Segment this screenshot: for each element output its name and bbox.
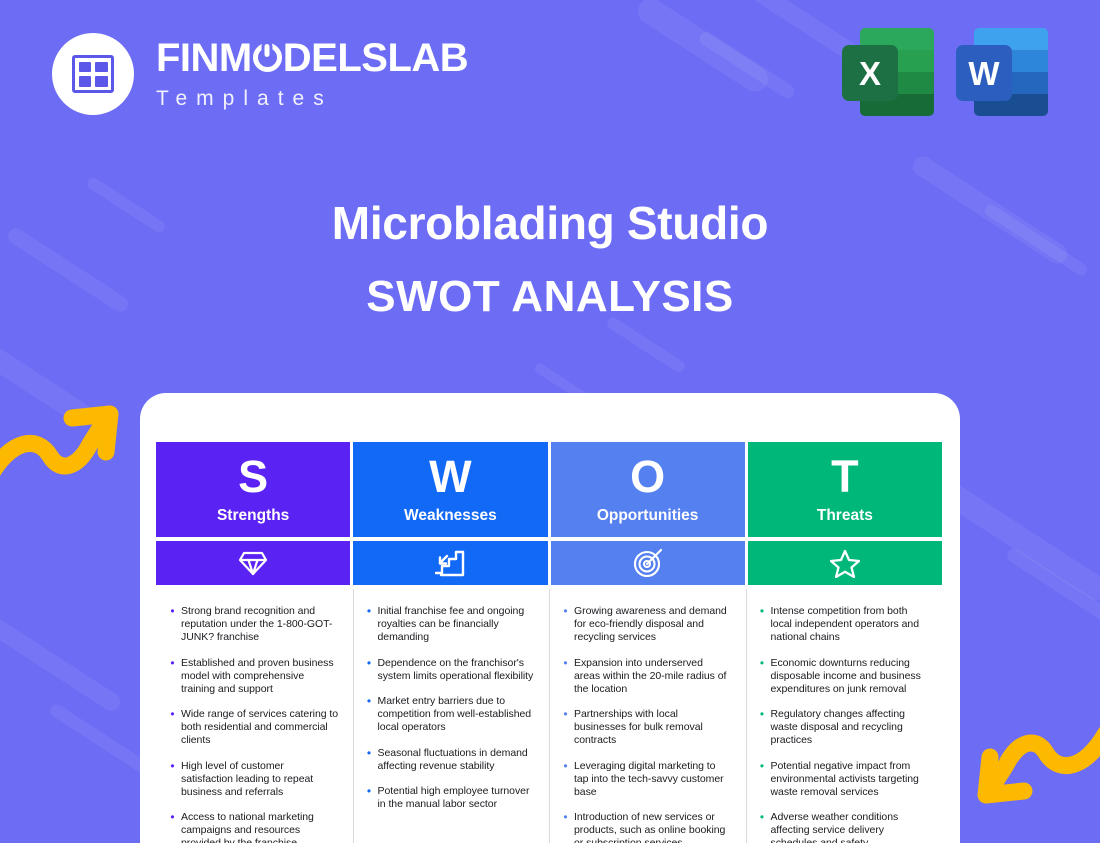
- squiggle-arrow-down-left-icon: [962, 719, 1100, 811]
- bullet-icon: •: [168, 605, 177, 644]
- swot-card: S Strengths W Weaknesses O Opportunities…: [140, 393, 960, 843]
- list-item: •Strong brand recognition and reputation…: [168, 605, 339, 644]
- list-item: •Access to national marketing campaigns …: [168, 811, 339, 843]
- descending-stairs-icon: [435, 550, 465, 577]
- list-item: •Partnerships with local businesses for …: [561, 708, 732, 747]
- swot-column-threats: •Intense competition from both local ind…: [746, 605, 943, 843]
- swot-header-strengths[interactable]: S Strengths: [156, 442, 350, 537]
- brand-tagline: Templates: [156, 87, 468, 111]
- swot-icon-row: [156, 541, 942, 585]
- list-item: •Introduction of new services or product…: [561, 811, 732, 843]
- file-format-badges: X W: [842, 28, 1048, 120]
- bullet-icon: •: [758, 811, 767, 843]
- target-icon: [633, 548, 663, 578]
- grid-logo-icon: [52, 33, 134, 115]
- list-item: •High level of customer satisfaction lea…: [168, 760, 339, 799]
- swot-label-weaknesses: Weaknesses: [404, 507, 497, 525]
- bullet-icon: •: [758, 708, 767, 747]
- swot-letter-t: T: [831, 454, 859, 499]
- swot-label-opportunities: Opportunities: [597, 507, 699, 525]
- brand-logo: FINM DELSLAB Templates: [52, 33, 468, 115]
- swot-column-strengths: •Strong brand recognition and reputation…: [156, 605, 353, 843]
- list-item: •Intense competition from both local ind…: [758, 605, 929, 644]
- brand-name-part1: FINM: [156, 38, 252, 78]
- swot-letter-w: W: [429, 454, 471, 499]
- swot-header-row: S Strengths W Weaknesses O Opportunities…: [156, 442, 942, 537]
- swot-letter-o: O: [630, 454, 665, 499]
- swot-header-opportunities[interactable]: O Opportunities: [551, 442, 745, 537]
- list-item: •Dependence on the franchisor's system l…: [365, 657, 536, 683]
- list-item: •Leveraging digital marketing to tap int…: [561, 760, 732, 799]
- bullet-icon: •: [365, 747, 374, 773]
- bullet-icon: •: [561, 657, 570, 696]
- brand-name: FINM DELSLAB: [156, 38, 468, 78]
- swot-letter-s: S: [238, 454, 268, 499]
- bullet-icon: •: [561, 811, 570, 843]
- bullet-icon: •: [561, 605, 570, 644]
- list-item: •Seasonal fluctuations in demand affecti…: [365, 747, 536, 773]
- swot-icon-cell-threats: [748, 541, 942, 585]
- bullet-icon: •: [561, 708, 570, 747]
- swot-body-row: •Strong brand recognition and reputation…: [156, 605, 942, 843]
- bullet-icon: •: [365, 695, 374, 734]
- bullet-icon: •: [758, 760, 767, 799]
- list-item: •Growing awareness and demand for eco-fr…: [561, 605, 732, 644]
- brand-power-o-icon: [253, 43, 282, 72]
- swot-header-threats[interactable]: T Threats: [748, 442, 942, 537]
- list-item: •Market entry barriers due to competitio…: [365, 695, 536, 734]
- bullet-icon: •: [365, 605, 374, 644]
- swot-label-strengths: Strengths: [217, 507, 289, 525]
- squiggle-arrow-up-right-icon: [0, 398, 134, 490]
- bullet-icon: •: [168, 657, 177, 696]
- bullet-icon: •: [758, 605, 767, 644]
- bullet-icon: •: [168, 708, 177, 747]
- list-item: •Regulatory changes affecting waste disp…: [758, 708, 929, 747]
- word-icon[interactable]: W: [956, 28, 1048, 120]
- swot-column-opportunities: •Growing awareness and demand for eco-fr…: [549, 605, 746, 843]
- list-item: •Potential negative impact from environm…: [758, 760, 929, 799]
- list-item: •Established and proven business model w…: [168, 657, 339, 696]
- swot-table: S Strengths W Weaknesses O Opportunities…: [156, 442, 942, 843]
- swot-icon-cell-weaknesses: [353, 541, 547, 585]
- diamond-icon: [238, 550, 268, 576]
- page-title: Microblading Studio: [0, 196, 1100, 250]
- list-item: •Initial franchise fee and ongoing royal…: [365, 605, 536, 644]
- word-letter: W: [956, 45, 1012, 101]
- bullet-icon: •: [168, 760, 177, 799]
- bullet-icon: •: [365, 657, 374, 683]
- list-item: •Wide range of services catering to both…: [168, 708, 339, 747]
- excel-letter: X: [842, 45, 898, 101]
- swot-icon-cell-opportunities: [551, 541, 745, 585]
- swot-column-weaknesses: •Initial franchise fee and ongoing royal…: [353, 605, 550, 843]
- bullet-icon: •: [365, 785, 374, 811]
- list-item: •Economic downturns reducing disposable …: [758, 657, 929, 696]
- swot-icon-cell-strengths: [156, 541, 350, 585]
- bullet-icon: •: [561, 760, 570, 799]
- list-item: •Adverse weather conditions affecting se…: [758, 811, 929, 843]
- swot-label-threats: Threats: [817, 507, 873, 525]
- excel-icon[interactable]: X: [842, 28, 934, 120]
- bullet-icon: •: [758, 657, 767, 696]
- page-subtitle: SWOT ANALYSIS: [0, 272, 1100, 322]
- bullet-icon: •: [168, 811, 177, 843]
- title-block: Microblading Studio SWOT ANALYSIS: [0, 196, 1100, 322]
- list-item: •Potential high employee turnover in the…: [365, 785, 536, 811]
- brand-name-part2: DELSLAB: [283, 38, 468, 78]
- star-icon: [830, 549, 860, 578]
- list-item: •Expansion into underserved areas within…: [561, 657, 732, 696]
- swot-header-weaknesses[interactable]: W Weaknesses: [353, 442, 547, 537]
